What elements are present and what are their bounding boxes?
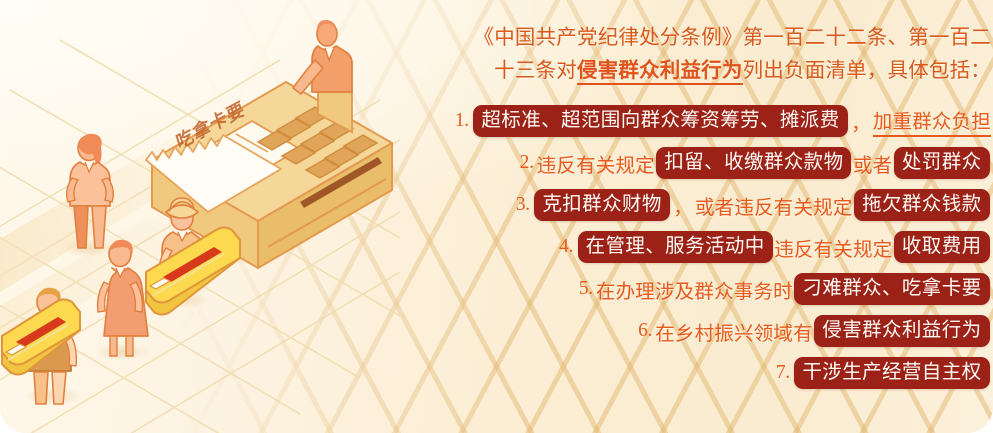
list-item-number: 7. [776, 362, 790, 384]
plain-text: 在办理涉及群众事务时 [596, 275, 793, 304]
highlight-pill: 拖欠群众钱款 [854, 189, 989, 222]
list-item-number: 2. [520, 152, 534, 174]
punctuation: ， [671, 191, 695, 220]
highlight-pill: 侵害群众利益行为 [814, 315, 989, 348]
list-item-number: 3. [516, 194, 530, 216]
heading-line-2: 十三条对侵害群众利益行为列出负面清单，具体包括： [404, 55, 991, 88]
list-item: 7.干涉生产经营自主权 [776, 352, 993, 394]
highlight-pill: 在管理、服务活动中 [578, 231, 773, 264]
highlight-pill: 克扣群众财物 [534, 189, 669, 222]
list-item: 6.在乡村振兴领域有侵害群众利益行为 [638, 310, 993, 352]
underlined-text: 加重群众负担 [873, 105, 991, 137]
list-item-number: 1. [455, 110, 469, 132]
infographic-poster: 吃拿卡要 [0, 0, 993, 433]
punctuation: ， [849, 107, 873, 136]
plain-text: 违反有关规定 [537, 149, 655, 178]
heading-line2-post: 列出负面清单，具体包括： [743, 60, 991, 82]
list-item: 4.在管理、服务活动中违反有关规定收取费用 [559, 226, 993, 268]
plain-text: 或者 [853, 149, 892, 178]
list-item: 1.超标准、超范围向群众筹资筹劳、摊派费，加重群众负担 [455, 100, 993, 142]
highlight-pill: 超标准、超范围向群众筹资筹劳、摊派费 [473, 105, 847, 138]
highlight-pill: 刁难群众、吃拿卡要 [794, 273, 989, 306]
list-item-number: 5. [579, 278, 593, 300]
plain-text: 在乡村振兴领域有 [655, 317, 813, 346]
highlight-pill: 干涉生产经营自主权 [794, 357, 989, 390]
plain-text: 或者违反有关规定 [695, 191, 853, 220]
illustration-pos-terminal-scene: 吃拿卡要 [0, 0, 400, 433]
highlight-pill: 收取费用 [894, 231, 990, 264]
highlight-pill: 处罚群众 [894, 147, 990, 180]
list-item: 3.克扣群众财物，或者违反有关规定拖欠群众钱款 [516, 184, 993, 226]
text-panel: 《中国共产党纪律处分条例》第一百二十二条、第一百二 十三条对侵害群众利益行为列出… [404, 22, 993, 422]
list-item: 2.违反有关规定扣留、收缴群众款物或者处罚群众 [520, 142, 993, 184]
negative-list: 1.超标准、超范围向群众筹资筹劳、摊派费，加重群众负担2.违反有关规定扣留、收缴… [404, 100, 993, 394]
page-title: 《中国共产党纪律处分条例》第一百二十二条、第一百二 十三条对侵害群众利益行为列出… [404, 22, 993, 88]
heading-line-1: 《中国共产党纪律处分条例》第一百二十二条、第一百二 [474, 27, 992, 49]
list-item-number: 6. [638, 320, 652, 342]
heading-line2-pre: 十三条对 [494, 60, 577, 82]
list-item-number: 4. [559, 236, 573, 258]
plain-text: 违反有关规定 [774, 233, 892, 262]
heading-emphasis: 侵害群众利益行为 [577, 60, 743, 85]
highlight-pill: 扣留、收缴群众款物 [656, 147, 851, 180]
list-item: 5.在办理涉及群众事务时刁难群众、吃拿卡要 [579, 268, 993, 310]
